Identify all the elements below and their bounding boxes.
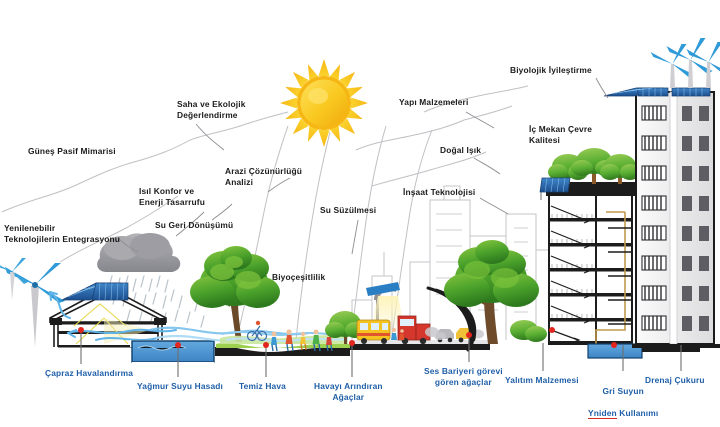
top-label-insaat-teknolojisi: İnşaat Teknolojisi [403,187,475,198]
top-label-biyolojik-iyilestirme: Biyolojik İyileştirme [510,65,592,76]
top-label-su-suzulmesi: Su Süzülmesi [320,205,376,216]
top-label-su-geri-donusumu: Su Geri Dönüşümü [155,220,233,231]
gri-suyun-line1: Gri Suyun [602,386,643,396]
top-label-yenilenebilir-teknolojilerin-entegrasyonu: Yenilenebilir Teknolojilerin Entegrasyon… [4,223,120,245]
bottom-label-ses-bariyeri-goren-agaclar: Ses Bariyeri görevi gören ağaçlar [424,366,503,388]
top-label-isil-konfor-ve-enerji-tasarrufu: Isıl Konfor ve Enerji Tasarrufu [139,186,205,208]
rain-water-tank [130,340,215,366]
top-label-gunes-pasif-mimarisi: Güneş Pasif Mimarisi [28,146,116,157]
bottom-label-yagmur-suyu-hasadi: Yağmur Suyu Hasadı [137,381,223,392]
top-label-biyocesitlilik: Biyoçeşitlilik [272,272,325,283]
infographic-canvas: Güneş Pasif Mimarisi Saha ve Ekolojik De… [0,0,720,427]
bottom-label-temiz-hava: Temiz Hava [239,381,286,392]
sun-icon [280,59,368,147]
top-label-dogal-isik: Doğal Işık [440,145,481,156]
gri-suyun-misspelled-word: Yniden [588,408,617,419]
top-label-ic-mekan-cevre-kalitesi: İç Mekan Çevre Kalitesi [529,124,592,146]
gri-suyun-line2-rest: Kullanımı [617,408,659,418]
bottom-label-capraz-havalandirma: Çapraz Havalandırma [45,368,133,379]
top-label-arazi-cozunurlugu-analizi: Arazi Çözünürlüğü Analizi [225,166,302,188]
top-label-saha-ve-ekolojik-degerlendirme: Saha ve Ekolojik Değerlendirme [177,99,246,121]
city-bus [357,320,390,344]
bottom-label-yalitim-malzemesi: Yalıtım Malzemesi [505,375,579,386]
bottom-label-havayi-arindiran-agaclar: Havayı Arındıran Ağaçlar [314,381,383,403]
bottom-label-drenaj-cukuru: Drenaj Çukuru [645,375,705,386]
top-label-yapi-malzemeleri: Yapı Malzemeleri [399,97,468,108]
